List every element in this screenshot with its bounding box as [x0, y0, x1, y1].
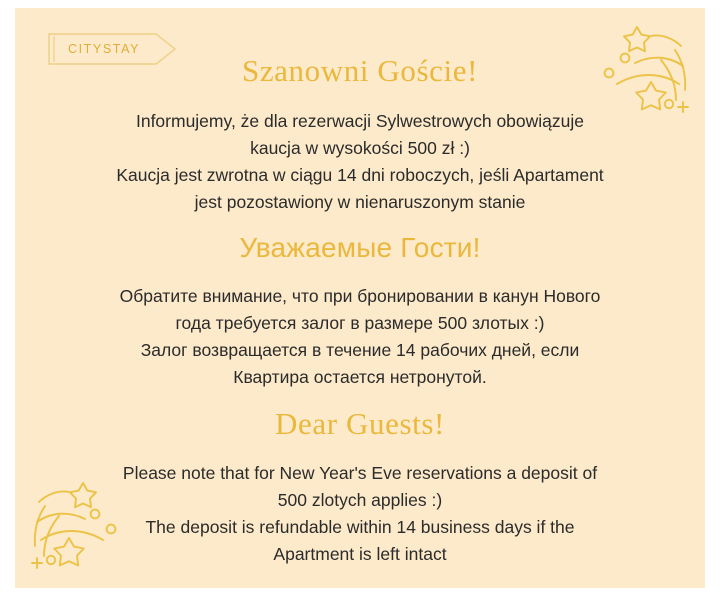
polish-line-1: Informujemy, że dla rezerwacji Sylwestro… [15, 108, 705, 135]
section-english-body: Please note that for New Year's Eve rese… [15, 460, 705, 568]
russian-line-3: Залог возвращается в течение 14 рабочих … [15, 337, 705, 364]
english-line-4: Apartment is left intact [15, 541, 705, 568]
section-english-heading-wrap: Dear Guests! [15, 406, 705, 442]
section-russian-body: Обратите внимание, что при бронировании … [15, 283, 705, 391]
polish-heading: Szanowni Goście! [15, 53, 705, 89]
polish-line-2: kaucja w wysokości 500 zł :) [15, 135, 705, 162]
section-polish-body: Informujemy, że dla rezerwacji Sylwestro… [15, 108, 705, 216]
polish-line-3: Kaucja jest zwrotna w ciągu 14 dni roboc… [15, 162, 705, 189]
russian-line-2: года требуется залог в размере 500 злоты… [15, 310, 705, 337]
russian-heading: Уважаемые Гости! [15, 232, 705, 264]
english-heading: Dear Guests! [15, 406, 705, 442]
english-line-3: The deposit is refundable within 14 busi… [15, 514, 705, 541]
section-russian-heading-wrap: Уважаемые Гости! [15, 232, 705, 264]
section-polish-heading-wrap: Szanowni Goście! [15, 53, 705, 89]
russian-line-4: Квартира остается нетронутой. [15, 364, 705, 391]
english-line-2: 500 zlotych applies :) [15, 487, 705, 514]
polish-line-4: jest pozostawiony w nienaruszonym stanie [15, 189, 705, 216]
english-line-1: Please note that for New Year's Eve rese… [15, 460, 705, 487]
notice-card: CITYSTAY [15, 8, 705, 588]
russian-line-1: Обратите внимание, что при бронировании … [15, 283, 705, 310]
